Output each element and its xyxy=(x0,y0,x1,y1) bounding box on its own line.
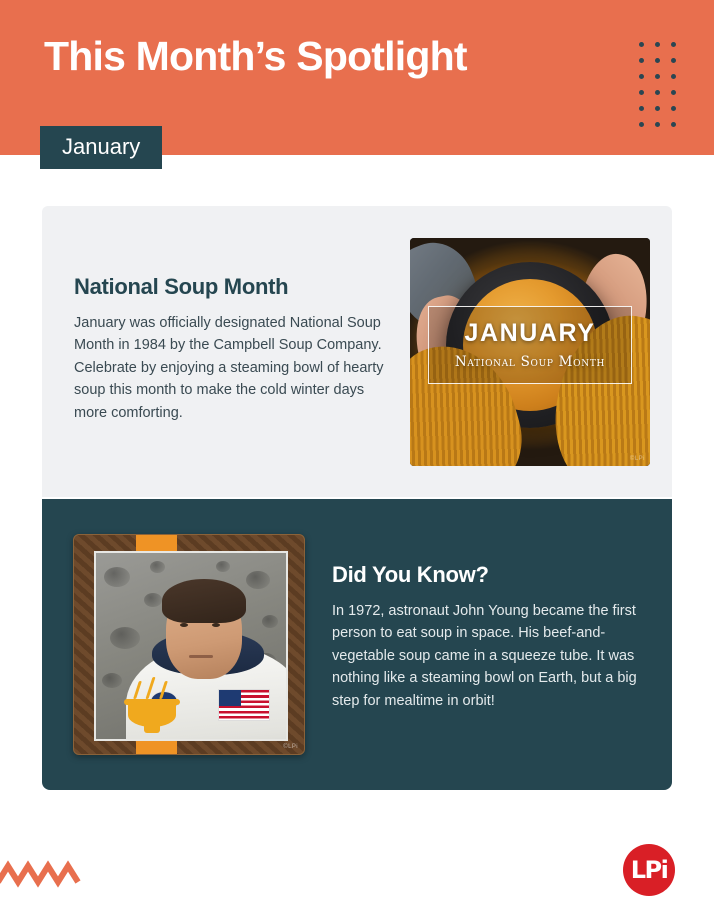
soup-photo-overlay-title: JANUARY xyxy=(464,321,595,346)
lpi-logo: LPi xyxy=(623,844,675,896)
astronaut-mouth xyxy=(189,655,213,658)
month-badge: January xyxy=(40,126,162,169)
astronaut-photo-credit: ©LPi xyxy=(283,744,298,750)
soup-card-heading: National Soup Month xyxy=(74,274,288,300)
soup-photo: JANUARY National Soup Month ©LPi xyxy=(410,238,650,466)
astronaut-eye-right xyxy=(212,623,220,627)
astronaut-eye-left xyxy=(180,623,188,627)
did-you-know-heading: Did You Know? xyxy=(332,562,489,588)
soup-photo-overlay-subtitle: National Soup Month xyxy=(455,354,605,370)
lpi-logo-text: LPi xyxy=(631,858,668,882)
zigzag-icon xyxy=(0,856,120,890)
astronaut-hair xyxy=(162,579,246,623)
astronaut-photo xyxy=(94,551,288,741)
soup-month-card: National Soup Month January was official… xyxy=(42,206,672,497)
soup-photo-overlay: JANUARY National Soup Month xyxy=(428,306,632,384)
us-flag-patch-icon xyxy=(218,689,270,721)
dot-grid-icon xyxy=(633,37,681,133)
spotlight-page: This Month’s Spotlight January National … xyxy=(0,0,714,924)
steaming-soup-bowl-icon xyxy=(124,673,180,727)
soup-card-body: January was officially designated Nation… xyxy=(74,312,384,424)
did-you-know-card: ©LPi Did You Know? In 1972, astronaut Jo… xyxy=(42,499,672,790)
soup-photo-watermark: ©LPi xyxy=(630,456,645,462)
astronaut-photo-frame: ©LPi xyxy=(73,534,305,755)
did-you-know-body: In 1972, astronaut John Young became the… xyxy=(332,600,644,712)
page-title: This Month’s Spotlight xyxy=(44,34,467,79)
